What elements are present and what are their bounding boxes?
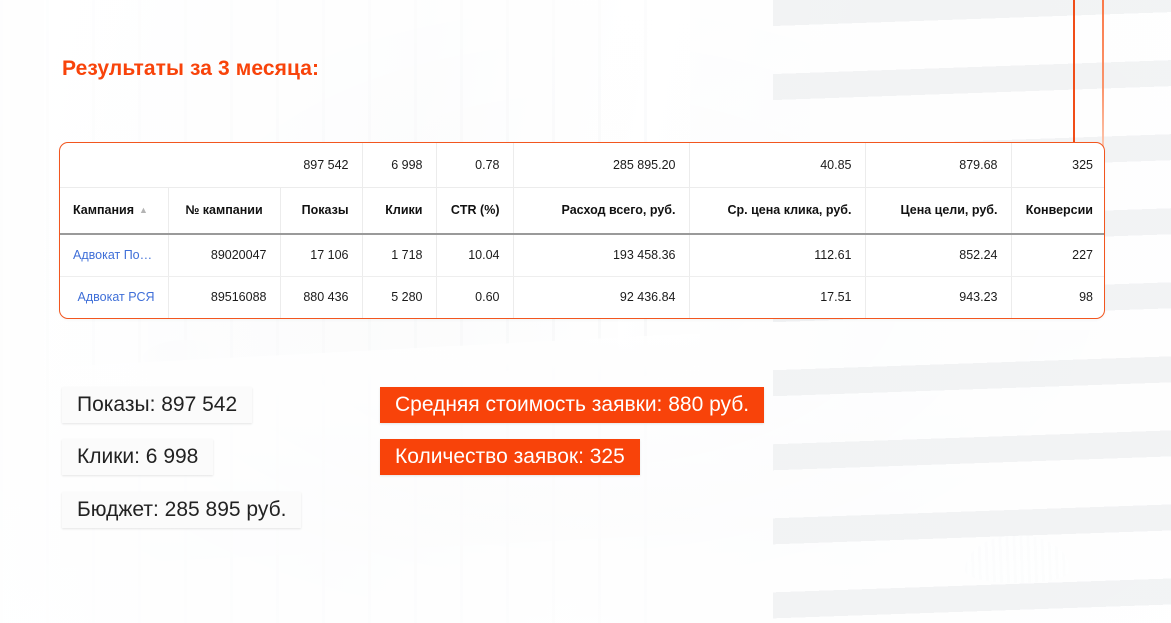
totals-ctr-cell: 0.78 (436, 143, 513, 187)
cell-shows: 17 106 (280, 234, 362, 276)
table-row[interactable]: Адвокат РСЯ 89516088 880 436 5 280 0.60 … (60, 276, 1105, 318)
cell-campaign-name[interactable]: Адвокат Поиск (60, 234, 168, 276)
totals-clicks-cell: 6 998 (362, 143, 436, 187)
cell-ctr: 10.04 (436, 234, 513, 276)
table-row[interactable]: Адвокат Поиск 89020047 17 106 1 718 10.0… (60, 234, 1105, 276)
highlight-average-lead-cost: Средняя стоимость заявки: 880 руб. (380, 387, 764, 423)
column-header-cpc[interactable]: Ср. цена клика, руб. (689, 187, 865, 234)
highlight-budget: Бюджет: 285 895 руб. (62, 492, 301, 528)
cell-campaign-name[interactable]: Адвокат РСЯ (60, 276, 168, 318)
highlight-lead-count: Количество заявок: 325 (380, 439, 640, 475)
totals-goal-cell: 879.68 (865, 143, 1011, 187)
totals-campaign-cell (60, 143, 168, 187)
sort-ascending-icon[interactable]: ▲ (139, 205, 148, 215)
cell-spend: 92 436.84 (513, 276, 689, 318)
cell-shows: 880 436 (280, 276, 362, 318)
cell-campaign-number: 89020047 (168, 234, 280, 276)
cell-clicks: 1 718 (362, 234, 436, 276)
cell-spend: 193 458.36 (513, 234, 689, 276)
column-header-conversions[interactable]: Конверсии (1011, 187, 1105, 234)
column-header-shows[interactable]: Показы (280, 187, 362, 234)
cell-cpc: 17.51 (689, 276, 865, 318)
totals-spend-cell: 285 895.20 (513, 143, 689, 187)
slide-content: Результаты за 3 месяца: 897 542 6 998 0.… (0, 0, 1171, 623)
column-header-clicks[interactable]: Клики (362, 187, 436, 234)
table-totals-row: 897 542 6 998 0.78 285 895.20 40.85 879.… (60, 143, 1105, 187)
table-header-row: Кампания▲ № кампании Показы Клики CTR (%… (60, 187, 1105, 234)
cell-goal-price: 852.24 (865, 234, 1011, 276)
column-header-spend[interactable]: Расход всего, руб. (513, 187, 689, 234)
column-header-number[interactable]: № кампании (168, 187, 280, 234)
totals-number-cell (168, 143, 280, 187)
cell-conversions: 227 (1011, 234, 1105, 276)
cell-ctr: 0.60 (436, 276, 513, 318)
table-body: Адвокат Поиск 89020047 17 106 1 718 10.0… (60, 234, 1105, 318)
report-table-card: 897 542 6 998 0.78 285 895.20 40.85 879.… (59, 142, 1105, 319)
cell-cpc: 112.61 (689, 234, 865, 276)
column-header-campaign-label: Кампания (73, 203, 134, 217)
totals-conversions-cell: 325 (1011, 143, 1105, 187)
highlight-shows: Показы: 897 542 (62, 387, 252, 423)
campaign-statistics-table: 897 542 6 998 0.78 285 895.20 40.85 879.… (60, 143, 1105, 318)
page-title: Результаты за 3 месяца: (62, 57, 319, 81)
totals-cpc-cell: 40.85 (689, 143, 865, 187)
column-header-ctr[interactable]: CTR (%) (436, 187, 513, 234)
column-header-goal-price[interactable]: Цена цели, руб. (865, 187, 1011, 234)
column-header-campaign[interactable]: Кампания▲ (60, 187, 168, 234)
cell-goal-price: 943.23 (865, 276, 1011, 318)
cell-conversions: 98 (1011, 276, 1105, 318)
totals-shows-cell: 897 542 (280, 143, 362, 187)
cell-clicks: 5 280 (362, 276, 436, 318)
cell-campaign-number: 89516088 (168, 276, 280, 318)
highlight-clicks: Клики: 6 998 (62, 439, 213, 475)
